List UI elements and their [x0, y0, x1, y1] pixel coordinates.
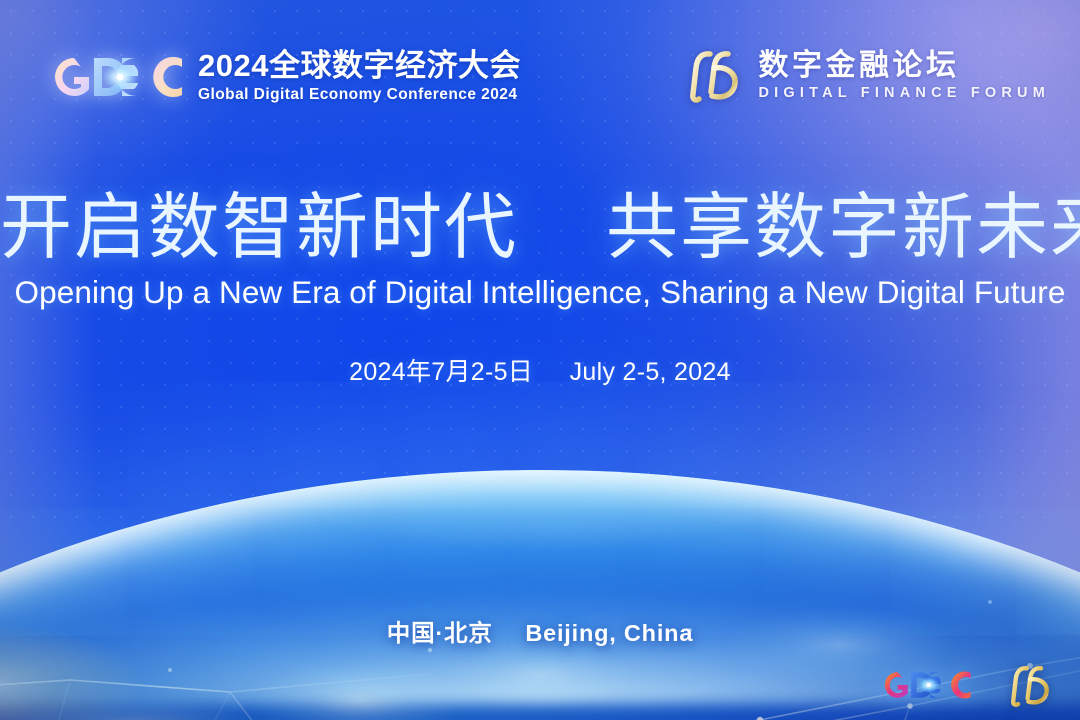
forum-titles: 数字金融论坛 DIGITAL FINANCE FORUM [758, 49, 1050, 101]
event-date-cn: 2024年7月2-5日 [349, 358, 533, 386]
digital-finance-forum-logo: 数字金融论坛 DIGITAL FINANCE FORUM [684, 46, 1050, 104]
gdec-logo [36, 46, 196, 108]
event-date: 2024年7月2-5日 July 2-5, 2024 [0, 352, 1080, 388]
slogan-chinese-part1: 开启数智新时代 [0, 188, 518, 268]
conference-name-cn: 2024全球数字经济大会 [198, 49, 521, 83]
conference-backdrop: 2024全球数字经济大会 Global Digital Economy Conf… [0, 0, 1080, 720]
event-date-en: July 2-5, 2024 [570, 358, 731, 386]
conference-name-en: Global Digital Economy Conference 2024 [198, 86, 521, 104]
slogan-chinese-part2: 共享数字新未来 [606, 188, 1080, 268]
gdec-logo-mark-icon [36, 46, 196, 108]
slogan-chinese: 开启数智新时代 共享数字新未来 [0, 186, 1080, 270]
forum-name-cn: 数字金融论坛 [758, 49, 1050, 82]
event-location: 中国·北京 Beijing, China [0, 614, 1080, 648]
slogan-english: Opening Up a New Era of Digital Intellig… [0, 274, 1080, 311]
slogan-block: 开启数智新时代 共享数字新未来 Opening Up a New Era of … [0, 186, 1080, 311]
ff-monogram-icon [684, 46, 744, 104]
event-location-cn: 中国·北京 [387, 620, 493, 646]
footer-logo-group [872, 662, 1054, 708]
event-location-en: Beijing, China [525, 620, 693, 646]
gdec-logo-mark-color-icon [872, 663, 980, 707]
gdec-titles: 2024全球数字经济大会 Global Digital Economy Conf… [198, 49, 521, 104]
header-bar: 2024全球数字经济大会 Global Digital Economy Conf… [0, 0, 1080, 130]
forum-name-en: DIGITAL FINANCE FORUM [758, 85, 1050, 101]
ff-monogram-gold-icon [1006, 662, 1054, 708]
